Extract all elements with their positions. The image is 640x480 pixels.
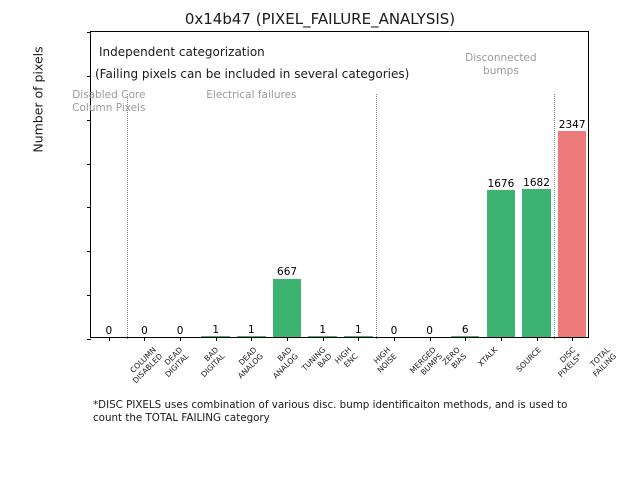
x-tick-mark [144,337,145,341]
x-tick-mark [216,337,217,341]
bar [344,336,373,337]
x-tick-mark [287,337,288,341]
x-tick-label: BADANALOG [266,346,301,381]
annotation-headline-2: (Failing pixels can be included in sever… [95,67,409,81]
y-tick-mark [87,76,91,77]
x-tick-label: TUNINGBAD [301,346,334,379]
bar-value-label: 0 [105,325,112,337]
x-tick-mark [251,337,252,341]
bar-value-label: 6 [462,324,469,336]
bar [201,336,230,337]
x-tick-label: ZEROBIAS [441,346,468,373]
x-tick-label: TOTALFAILING [586,346,619,379]
y-tick-mark [87,251,91,252]
bar [451,336,480,337]
bar-value-label: 1 [248,324,255,336]
y-tick-mark [87,207,91,208]
x-tick-mark [572,337,573,341]
bar [308,336,337,337]
bar [487,190,516,337]
bar [237,336,266,337]
annotation-group-label: Disabled Core Column Pixels [49,89,169,114]
bar [273,279,302,338]
x-tick-label: MERGEDBUMPS [409,346,445,382]
y-tick-mark [87,164,91,165]
x-tick-mark [465,337,466,341]
bar-value-label: 0 [391,325,398,337]
category-separator [127,94,128,339]
bar-value-label: 1 [319,324,326,336]
bar-value-label: 2347 [559,119,586,131]
bar-value-label: 1 [212,324,219,336]
bar-value-label: 667 [277,266,297,278]
category-separator [554,94,555,339]
annotation-headline-1: Independent categorization [99,45,265,59]
bar [522,189,551,337]
x-tick-label: HIGHENC [333,346,359,372]
annotation-group-label: Electrical failures [191,89,311,102]
x-tick-label: BADDIGITAL [194,346,227,379]
x-tick-mark [501,337,502,341]
y-tick-mark [87,295,91,296]
bar [558,131,587,337]
bar-chart-figure: 0x14b47 (PIXEL_FAILURE_ANALYSIS) Number … [0,0,640,480]
bar-value-label: 0 [177,325,184,337]
x-tick-mark [430,337,431,341]
bar-value-label: 1682 [523,177,550,189]
y-tick-mark [87,339,91,340]
y-axis-label: Number of pixels [31,10,46,190]
bar-value-label: 0 [141,325,148,337]
x-tick-mark [537,337,538,341]
x-tick-label: DISCPIXELS* [550,346,583,379]
x-tick-label: DEADDIGITAL [158,346,191,379]
bar-value-label: 0 [426,325,433,337]
y-tick-mark [87,32,91,33]
chart-title: 0x14b47 (PIXEL_FAILURE_ANALYSIS) [0,10,640,28]
x-tick-label: SOURCE [515,346,543,374]
x-tick-label: HIGHNOISE [370,346,399,375]
x-tick-mark [394,337,395,341]
bar-value-label: 1676 [488,178,515,190]
x-tick-mark [358,337,359,341]
x-tick-mark [109,337,110,341]
category-separator [376,94,377,339]
x-tick-mark [323,337,324,341]
footnote: *DISC PIXELS uses combination of various… [93,399,593,424]
annotation-group-label: Disconnected bumps [441,52,561,77]
x-tick-mark [180,337,181,341]
bar-value-label: 1 [355,324,362,336]
x-tick-label: XTALK [477,346,500,369]
plot-area: 0500100015002000250030003500 COLUMNDISAB… [90,31,589,338]
y-tick-mark [87,120,91,121]
x-tick-label: DEADANALOG [230,346,265,381]
